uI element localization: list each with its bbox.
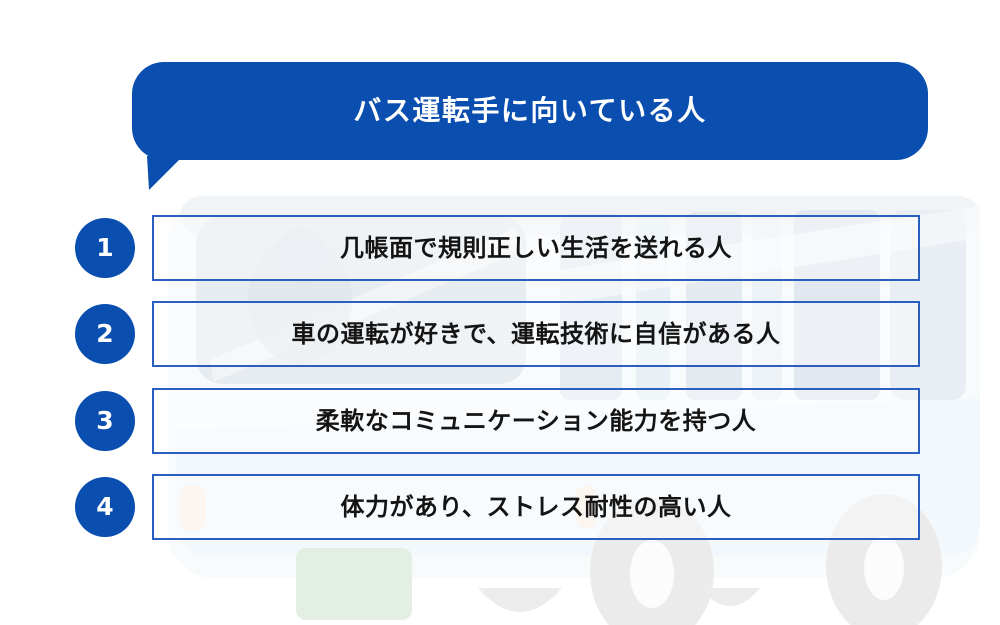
list-item-label: 車の運転が好きで、運転技術に自信がある人 bbox=[154, 303, 918, 365]
page-title: バス運転手に向いている人 bbox=[132, 62, 928, 160]
list-item[interactable]: 柔軟なコミュニケーション能力を持つ人 3 bbox=[0, 388, 1000, 454]
list-item-box[interactable]: 車の運転が好きで、運転技術に自信がある人 bbox=[152, 301, 920, 367]
list-item[interactable]: 几帳面で規則正しい生活を送れる人 1 bbox=[0, 215, 1000, 281]
list-item-number-badge: 1 bbox=[75, 218, 135, 278]
list-item-number-badge: 3 bbox=[75, 391, 135, 451]
list-item-label: 几帳面で規則正しい生活を送れる人 bbox=[154, 217, 918, 279]
list-item-box[interactable]: 柔軟なコミュニケーション能力を持つ人 bbox=[152, 388, 920, 454]
list-item-box[interactable]: 几帳面で規則正しい生活を送れる人 bbox=[152, 215, 920, 281]
speech-bubble-tail-icon bbox=[147, 156, 183, 190]
infographic-canvas: バス運転手に向いている人 几帳面で規則正しい生活を送れる人 1 車の運転が好きで… bbox=[0, 0, 1000, 625]
list-item-number-badge: 4 bbox=[75, 477, 135, 537]
list-item-label: 体力があり、ストレス耐性の高い人 bbox=[154, 476, 918, 538]
header-speech-bubble: バス運転手に向いている人 bbox=[132, 62, 928, 160]
list-item[interactable]: 車の運転が好きで、運転技術に自信がある人 2 bbox=[0, 301, 1000, 367]
list-item-label: 柔軟なコミュニケーション能力を持つ人 bbox=[154, 390, 918, 452]
list-item-box[interactable]: 体力があり、ストレス耐性の高い人 bbox=[152, 474, 920, 540]
list-item-number-badge: 2 bbox=[75, 304, 135, 364]
list-item[interactable]: 体力があり、ストレス耐性の高い人 4 bbox=[0, 474, 1000, 540]
